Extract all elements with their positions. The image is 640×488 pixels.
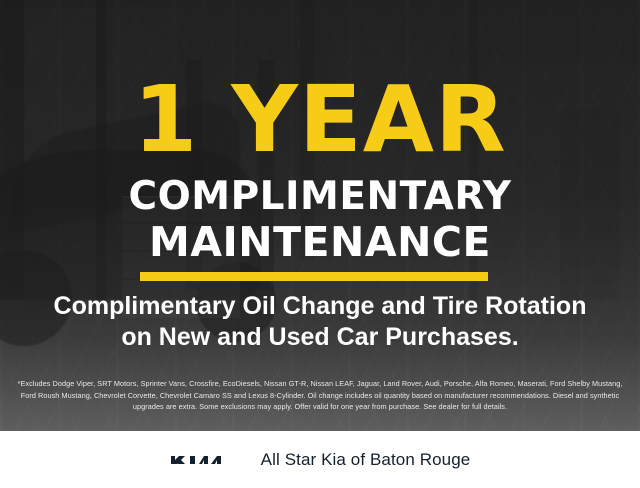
hero-photo-area: 1 YEAR COMPLIMENTARY MAINTENANCE Complim… [0,0,640,431]
offer-line-1: Complimentary Oil Change and Tire Rotati… [0,294,640,319]
headline-year: 1 YEAR [0,74,640,166]
dealer-footer: All Star Kia of Baton Rouge [0,431,640,488]
hero-content: 1 YEAR COMPLIMENTARY MAINTENANCE Complim… [0,0,640,431]
promo-banner: 1 YEAR COMPLIMENTARY MAINTENANCE Complim… [0,0,640,488]
headline-maintenance: MAINTENANCE [0,222,640,263]
yellow-divider [140,272,488,281]
dealer-name: All Star Kia of Baton Rouge [261,450,471,470]
offer-line-2: on New and Used Car Purchases. [0,325,640,350]
kia-logo [170,450,244,470]
disclaimer-text: *Excludes Dodge Viper, SRT Motors, Sprin… [16,378,624,413]
headline-complimentary: COMPLIMENTARY [0,177,640,216]
